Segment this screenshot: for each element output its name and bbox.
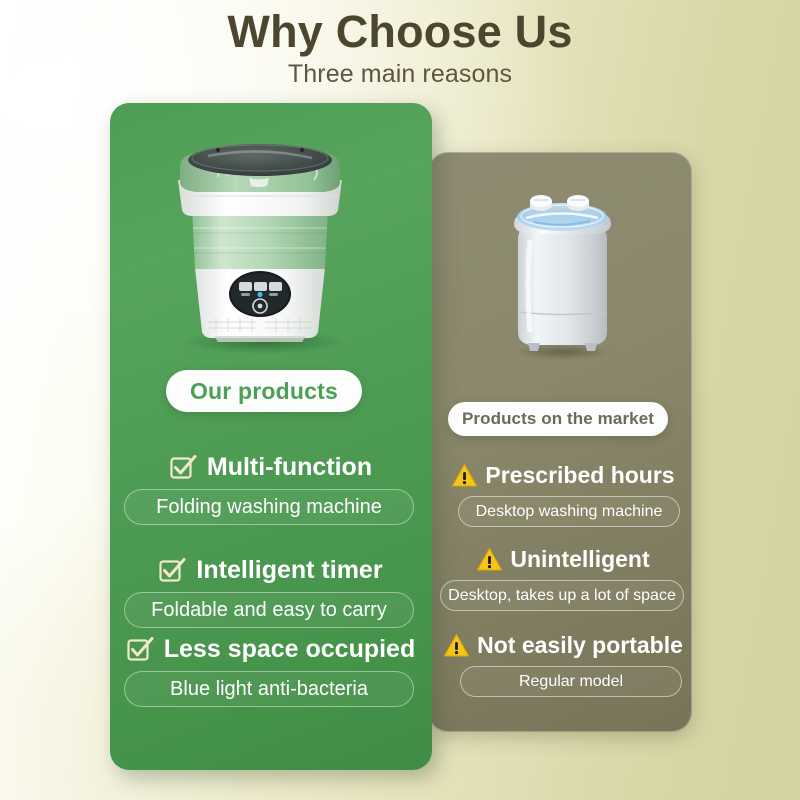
- warning-icon: [451, 463, 478, 488]
- market-feature-detail-2: Desktop, takes up a lot of space: [440, 580, 684, 611]
- check-icon: [125, 634, 155, 664]
- market-feature-head-1: Prescribed hours: [440, 462, 686, 489]
- our-products-badge[interactable]: Our products: [166, 370, 362, 412]
- our-feature-row-2: Intelligent timer Foldable and easy to c…: [124, 555, 420, 628]
- comparison-infographic: Why Choose Us Three main reasons: [0, 0, 800, 800]
- market-feature-row-1: Prescribed hours Desktop washing machine: [440, 462, 686, 527]
- market-products-badge[interactable]: Products on the market: [448, 402, 668, 436]
- our-feature-detail-3: Blue light anti-bacteria: [124, 671, 414, 707]
- our-feature-head-2: Intelligent timer: [124, 555, 420, 585]
- our-feature-title-2: Intelligent timer: [196, 556, 382, 585]
- market-feature-head-2: Unintelligent: [440, 546, 686, 573]
- our-feature-detail-1: Folding washing machine: [124, 489, 414, 525]
- check-icon: [168, 452, 198, 482]
- our-feature-title-3: Less space occupied: [164, 635, 416, 664]
- page-subtitle: Three main reasons: [0, 60, 800, 89]
- our-feature-title-1: Multi-function: [207, 453, 372, 482]
- market-feature-detail-1: Desktop washing machine: [458, 496, 680, 527]
- our-feature-row-1: Multi-function Folding washing machine: [124, 452, 420, 525]
- our-feature-head-3: Less space occupied: [124, 634, 420, 664]
- market-feature-title-3: Not easily portable: [477, 632, 683, 659]
- folding-washing-machine-image: [152, 136, 368, 356]
- page-title: Why Choose Us: [0, 8, 800, 55]
- warning-icon: [443, 633, 470, 658]
- our-feature-row-3: Less space occupied Blue light anti-bact…: [124, 634, 420, 707]
- our-feature-detail-2: Foldable and easy to carry: [124, 592, 414, 628]
- market-feature-row-2: Unintelligent Desktop, takes up a lot of…: [440, 546, 686, 611]
- desktop-washing-machine-image: [500, 188, 625, 360]
- market-feature-title-1: Prescribed hours: [485, 462, 674, 489]
- check-icon: [157, 555, 187, 585]
- market-feature-title-2: Unintelligent: [510, 546, 649, 573]
- market-feature-row-3: Not easily portable Regular model: [440, 632, 686, 697]
- market-feature-head-3: Not easily portable: [440, 632, 686, 659]
- warning-icon: [476, 547, 503, 572]
- our-feature-head-1: Multi-function: [124, 452, 420, 482]
- header: Why Choose Us Three main reasons: [0, 8, 800, 89]
- market-feature-detail-3: Regular model: [460, 666, 682, 697]
